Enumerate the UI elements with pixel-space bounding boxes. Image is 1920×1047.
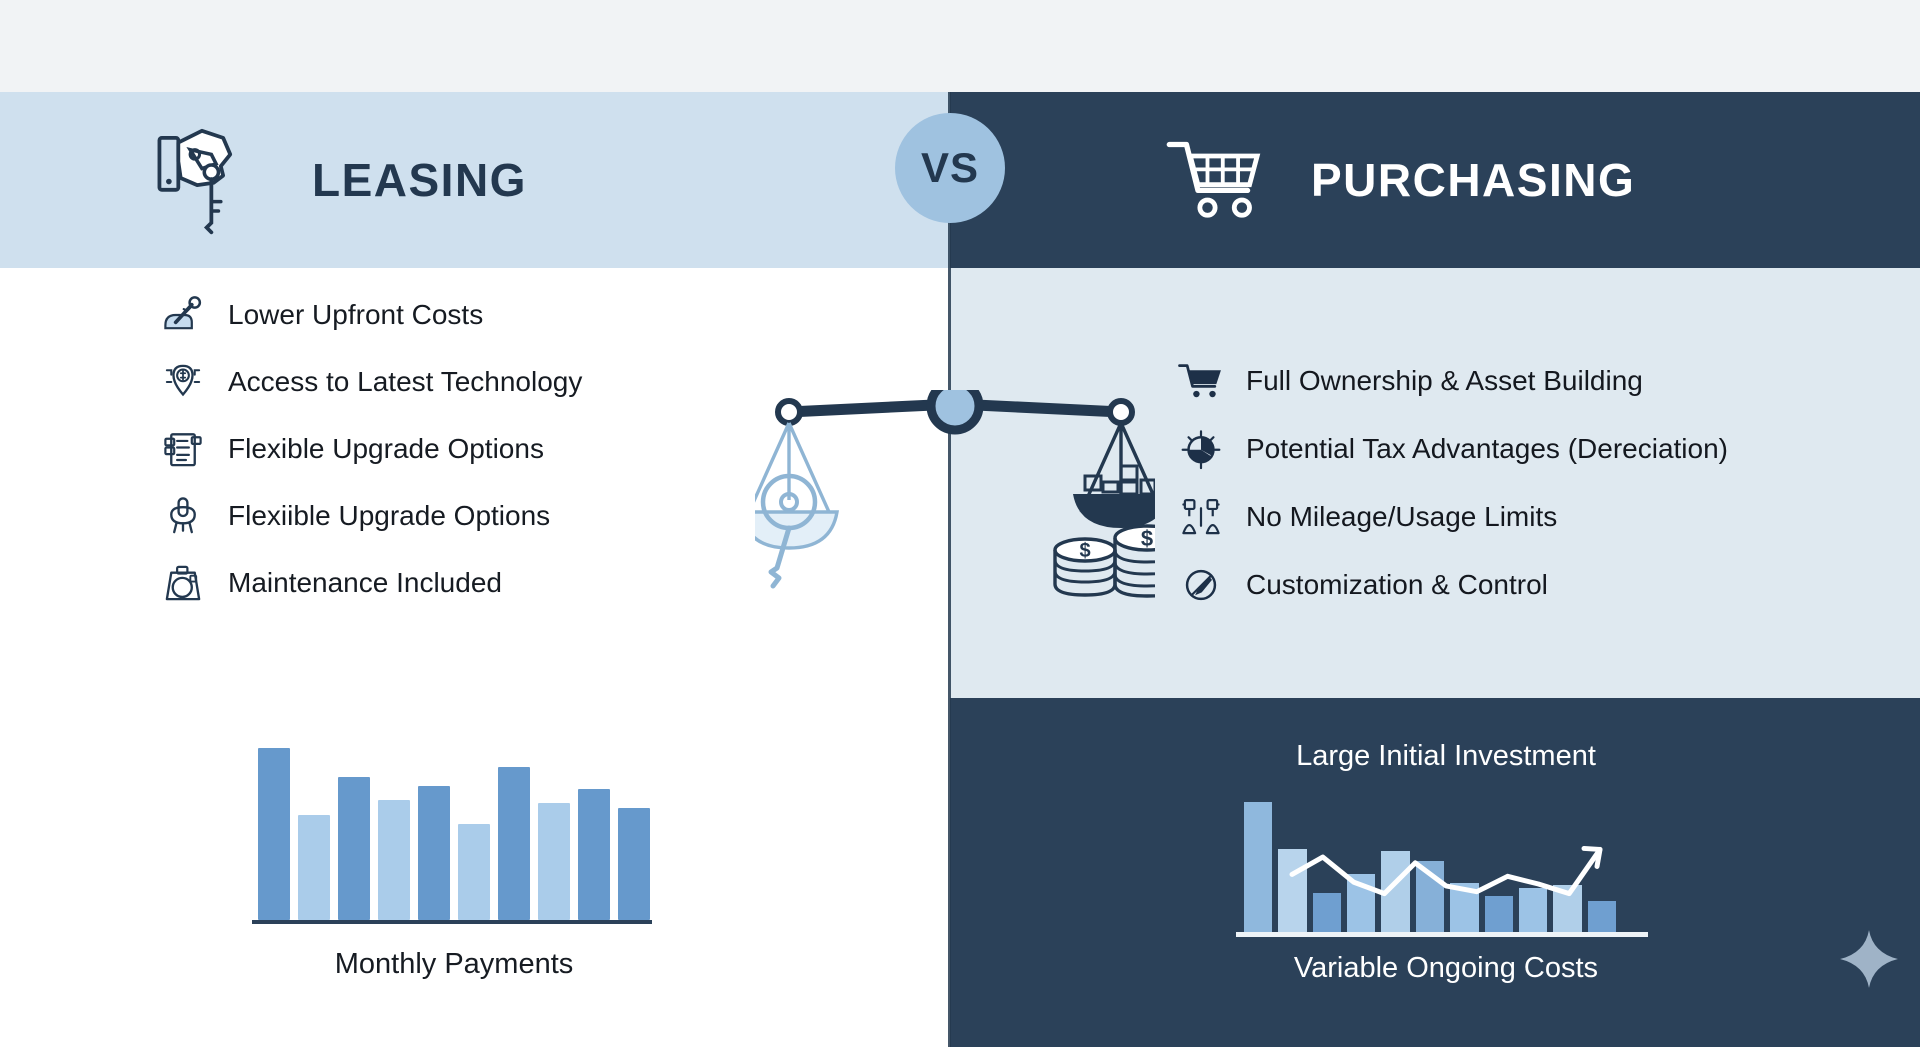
four-point-star-icon (1838, 928, 1900, 990)
list-item[interactable]: No Mileage/Usage Limits (1178, 494, 1878, 540)
wrench-circle-icon (1178, 562, 1224, 608)
list-item-label: Lower Upfront Costs (228, 300, 483, 331)
top-strip (0, 0, 1920, 92)
list-item[interactable]: Lower Upfront Costs (160, 292, 800, 338)
chart-caption-right-top: Large Initial Investment (1240, 740, 1652, 773)
variable-ongoing-costs-chart: Large Initial Investment Variable Ongoin… (1240, 756, 1652, 1006)
chart-caption-right-bottom: Variable Ongoing Costs (1240, 952, 1652, 985)
list-item-label: Flexiible Upgrade Options (228, 501, 550, 532)
page-title-purchasing: PURCHASING (1311, 153, 1635, 207)
coin-stack-right: $ (1115, 526, 1155, 596)
shopping-cart-icon (1178, 358, 1224, 404)
list-item-label: Access to Latest Technology (228, 367, 582, 398)
document-upgrade-icon (160, 426, 206, 472)
bar (258, 748, 290, 920)
coin-stack-left: $ (1055, 539, 1115, 595)
measurement-gauge-icon (1178, 494, 1224, 540)
bar (338, 777, 370, 920)
leasing-feature-list: Lower Upfront Costs Access to Latest Tec… (160, 292, 800, 606)
left-header: LEASING (150, 92, 527, 268)
list-item-label: Potential Tax Advantages (Dereciation) (1246, 434, 1728, 465)
chart-axis-left (252, 920, 652, 924)
infographic-stage: LEASING PURCHASING VS (0, 0, 1920, 1047)
bar (378, 800, 410, 920)
hand-holding-key-icon (150, 119, 268, 242)
list-item[interactable]: Flexible Upgrade Options (160, 426, 800, 472)
bar (538, 803, 570, 920)
bar (298, 815, 330, 920)
bar (618, 808, 650, 920)
list-item-label: Flexible Upgrade Options (228, 434, 544, 465)
list-item[interactable]: Full Ownership & Asset Building (1178, 358, 1878, 404)
shopping-cart-icon (1165, 135, 1271, 226)
list-item[interactable]: Flexiible Upgrade Options (160, 493, 800, 539)
vs-badge: VS (895, 113, 1005, 223)
chart-axis-right (1236, 932, 1648, 937)
trend-line (1240, 782, 1652, 942)
svg-text:$: $ (1141, 526, 1153, 551)
toolbox-icon (160, 560, 206, 606)
right-header: PURCHASING (1165, 92, 1635, 268)
money-location-pin-icon (160, 359, 206, 405)
bar (578, 789, 610, 920)
bar (458, 824, 490, 920)
bar-series-left (258, 748, 650, 920)
monthly-payments-chart: Monthly Payments (258, 748, 658, 988)
list-item-label: No Mileage/Usage Limits (1246, 502, 1557, 533)
list-item[interactable]: Potential Tax Advantages (Dereciation) (1178, 426, 1878, 472)
bar (498, 767, 530, 920)
page-title-leasing: LEASING (312, 153, 527, 207)
bar (418, 786, 450, 920)
list-item-label: Full Ownership & Asset Building (1246, 366, 1643, 397)
chart-caption-left: Monthly Payments (258, 948, 650, 981)
list-item-label: Customization & Control (1246, 570, 1548, 601)
purchasing-feature-list: Full Ownership & Asset Building Potentia… (1178, 358, 1878, 608)
list-item[interactable]: Access to Latest Technology (160, 359, 800, 405)
vs-label: VS (921, 144, 979, 192)
plug-outlet-icon (160, 493, 206, 539)
balance-scale-icon: $ $ (755, 390, 1155, 670)
pie-clock-icon (1178, 426, 1224, 472)
svg-text:$: $ (1079, 540, 1090, 562)
hand-key-icon (160, 292, 206, 338)
list-item[interactable]: Customization & Control (1178, 562, 1878, 608)
list-item-label: Maintenance Included (228, 568, 502, 599)
list-item[interactable]: Maintenance Included (160, 560, 800, 606)
